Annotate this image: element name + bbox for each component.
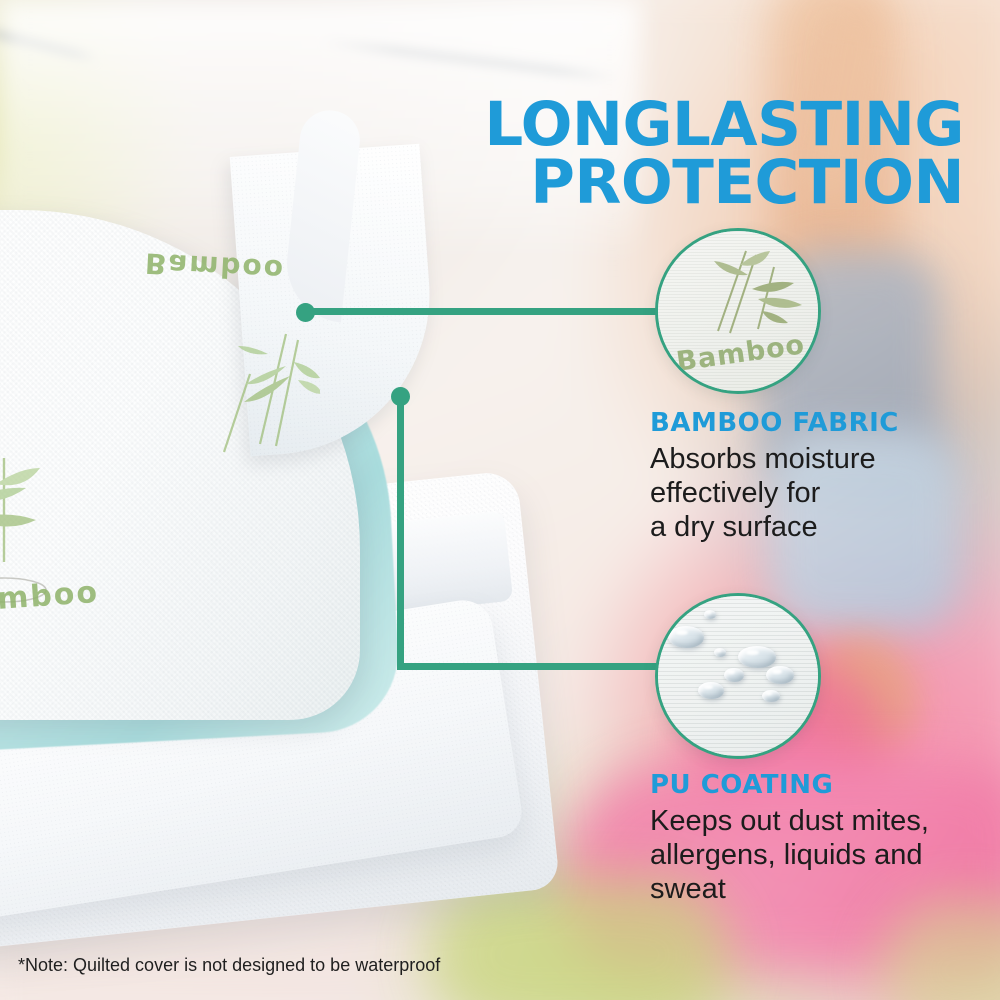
callout-body-line: a dry surface bbox=[650, 510, 899, 544]
callout-heading-pu-coating: PU COATING bbox=[650, 770, 929, 800]
bamboo-stalk-icon-top bbox=[190, 320, 320, 460]
callout-text-bamboo-fabric: BAMBOO FABRIC Absorbs moisture effective… bbox=[650, 408, 899, 545]
water-droplet bbox=[766, 666, 794, 684]
callout-circle-pu-coating bbox=[655, 593, 821, 759]
water-droplet bbox=[668, 626, 704, 648]
callout-body-line: allergens, liquids and bbox=[650, 838, 929, 872]
callout-circle-bamboo-fabric: Bamboo bbox=[655, 228, 821, 394]
callout-body-line: Keeps out dust mites, bbox=[650, 804, 929, 838]
page-title: LONGLASTING PROTECTION bbox=[484, 96, 964, 212]
callout-body-bamboo-fabric: Absorbs moisture effectively for a dry s… bbox=[650, 442, 899, 545]
water-droplet bbox=[724, 668, 744, 682]
headline-line-2: PROTECTION bbox=[484, 154, 964, 212]
callout-body-line: effectively for bbox=[650, 476, 899, 510]
connector-line-bamboo bbox=[305, 308, 660, 315]
callout-body-pu-coating: Keeps out dust mites, allergens, liquids… bbox=[650, 804, 929, 907]
connector-line-pu-horizontal bbox=[397, 663, 665, 670]
water-droplet bbox=[698, 682, 724, 699]
footnote-disclaimer: *Note: Quilted cover is not designed to … bbox=[18, 955, 440, 976]
callout-text-pu-coating: PU COATING Keeps out dust mites, allerge… bbox=[650, 770, 929, 907]
water-droplet bbox=[714, 648, 726, 657]
callout-heading-bamboo-fabric: BAMBOO FABRIC bbox=[650, 408, 899, 438]
water-droplet bbox=[738, 646, 776, 668]
callout-body-line: sweat bbox=[650, 872, 929, 906]
callout-body-line: Absorbs moisture bbox=[650, 442, 899, 476]
infographic-canvas: Bamboo bbox=[0, 0, 1000, 1000]
connector-line-pu-vertical bbox=[397, 396, 404, 670]
product-mattress-protector: Bamboo bbox=[0, 210, 580, 950]
water-droplet bbox=[704, 610, 716, 619]
water-droplet bbox=[762, 690, 780, 702]
